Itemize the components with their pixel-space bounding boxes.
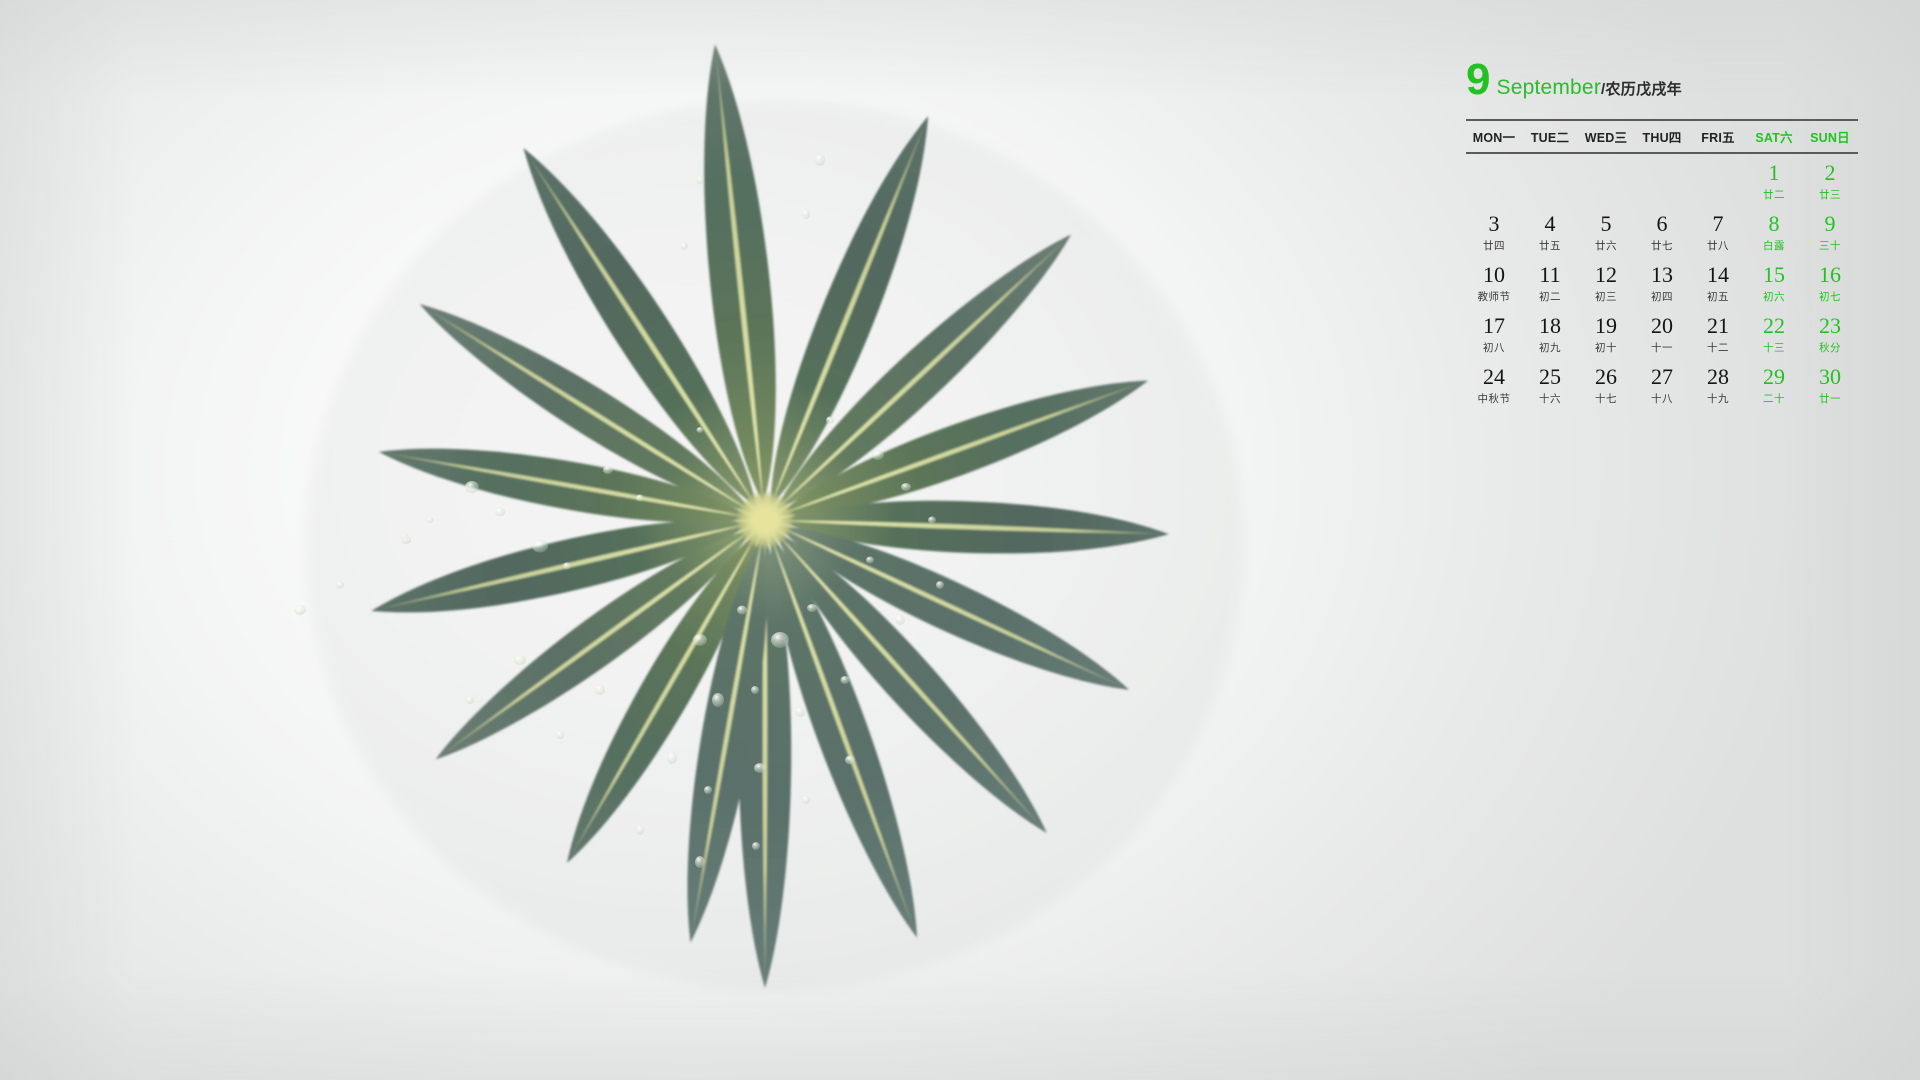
day-number: 11 (1522, 264, 1578, 286)
day-lunar-label: 十八 (1634, 394, 1690, 405)
day-lunar-label: 二十 (1746, 394, 1802, 405)
day-number: 9 (1802, 213, 1858, 235)
day-lunar-label: 廿七 (1634, 241, 1690, 252)
weekday-header-5: SAT六 (1746, 120, 1802, 153)
weekday-header-6: SUN日 (1802, 120, 1858, 153)
calendar-title: 9 September /农历戊戌年 (1466, 58, 1866, 104)
day-number: 12 (1578, 264, 1634, 286)
calendar-day-cell[interactable]: 6廿七 (1634, 205, 1690, 256)
calendar-day-cell[interactable]: 4廿五 (1522, 205, 1578, 256)
day-number: 25 (1522, 366, 1578, 388)
day-number: 1 (1746, 162, 1802, 184)
day-lunar-label: 初四 (1634, 292, 1690, 303)
calendar-week-row: 1廿二2廿三 (1466, 153, 1858, 205)
calendar-cell-empty (1578, 153, 1634, 205)
day-lunar-label: 秋分 (1802, 343, 1858, 354)
weekday-header-3: THU四 (1634, 120, 1690, 153)
calendar-cell-empty (1690, 153, 1746, 205)
calendar-week-row: 3廿四4廿五5廿六6廿七7廿八8白露9三十 (1466, 205, 1858, 256)
day-lunar-label: 初五 (1690, 292, 1746, 303)
calendar-day-cell[interactable]: 22十三 (1746, 307, 1802, 358)
calendar-cell-empty (1466, 153, 1522, 205)
day-lunar-label: 廿三 (1802, 190, 1858, 201)
day-lunar-label: 初十 (1578, 343, 1634, 354)
day-lunar-label: 初三 (1578, 292, 1634, 303)
day-number: 20 (1634, 315, 1690, 337)
month-name-en: September (1496, 76, 1601, 100)
weekday-header-4: FRI五 (1690, 120, 1746, 153)
day-lunar-label: 中秋节 (1466, 394, 1522, 405)
day-number: 22 (1746, 315, 1802, 337)
calendar-day-cell[interactable]: 1廿二 (1746, 153, 1802, 205)
day-lunar-label: 初九 (1522, 343, 1578, 354)
day-number: 8 (1746, 213, 1802, 235)
calendar-day-cell[interactable]: 10教师节 (1466, 256, 1522, 307)
day-lunar-label: 初八 (1466, 343, 1522, 354)
calendar-day-cell[interactable]: 3廿四 (1466, 205, 1522, 256)
day-lunar-label: 初六 (1746, 292, 1802, 303)
day-number: 28 (1690, 366, 1746, 388)
day-number: 18 (1522, 315, 1578, 337)
calendar-day-cell[interactable]: 30廿一 (1802, 358, 1858, 409)
calendar-day-cell[interactable]: 2廿三 (1802, 153, 1858, 205)
day-lunar-label: 十九 (1690, 394, 1746, 405)
calendar-week-row: 17初八18初九19初十20十一21十二22十三23秋分 (1466, 307, 1858, 358)
day-number: 21 (1690, 315, 1746, 337)
day-lunar-label: 初二 (1522, 292, 1578, 303)
calendar-week-row: 10教师节11初二12初三13初四14初五15初六16初七 (1466, 256, 1858, 307)
calendar-widget: 9 September /农历戊戌年 MON一TUE二WED三THU四FRI五S… (1466, 58, 1866, 409)
calendar-day-cell[interactable]: 20十一 (1634, 307, 1690, 358)
calendar-day-cell[interactable]: 25十六 (1522, 358, 1578, 409)
day-lunar-label: 白露 (1746, 241, 1802, 252)
calendar-day-cell[interactable]: 13初四 (1634, 256, 1690, 307)
day-lunar-label: 十六 (1522, 394, 1578, 405)
weekday-header-row: MON一TUE二WED三THU四FRI五SAT六SUN日 (1466, 120, 1858, 153)
weekday-header-0: MON一 (1466, 120, 1522, 153)
calendar-day-cell[interactable]: 29二十 (1746, 358, 1802, 409)
day-lunar-label: 廿一 (1802, 394, 1858, 405)
calendar-day-cell[interactable]: 27十八 (1634, 358, 1690, 409)
day-lunar-label: 三十 (1802, 241, 1858, 252)
calendar-day-cell[interactable]: 9三十 (1802, 205, 1858, 256)
calendar-day-cell[interactable]: 23秋分 (1802, 307, 1858, 358)
calendar-body: 1廿二2廿三3廿四4廿五5廿六6廿七7廿八8白露9三十10教师节11初二12初三… (1466, 153, 1858, 409)
calendar-head: MON一TUE二WED三THU四FRI五SAT六SUN日 (1466, 120, 1858, 153)
day-lunar-label: 廿四 (1466, 241, 1522, 252)
day-number: 3 (1466, 213, 1522, 235)
day-number: 13 (1634, 264, 1690, 286)
calendar-cell-empty (1522, 153, 1578, 205)
lunar-year: /农历戊戌年 (1601, 78, 1682, 99)
day-number: 16 (1802, 264, 1858, 286)
day-number: 5 (1578, 213, 1634, 235)
day-number: 27 (1634, 366, 1690, 388)
calendar-day-cell[interactable]: 26十七 (1578, 358, 1634, 409)
day-lunar-label: 十七 (1578, 394, 1634, 405)
day-lunar-label: 十二 (1690, 343, 1746, 354)
calendar-day-cell[interactable]: 17初八 (1466, 307, 1522, 358)
calendar-day-cell[interactable]: 18初九 (1522, 307, 1578, 358)
day-number: 19 (1578, 315, 1634, 337)
calendar-week-row: 24中秋节25十六26十七27十八28十九29二十30廿一 (1466, 358, 1858, 409)
day-lunar-label: 廿五 (1522, 241, 1578, 252)
calendar-day-cell[interactable]: 14初五 (1690, 256, 1746, 307)
day-number: 10 (1466, 264, 1522, 286)
calendar-day-cell[interactable]: 5廿六 (1578, 205, 1634, 256)
calendar-day-cell[interactable]: 12初三 (1578, 256, 1634, 307)
month-number: 9 (1466, 58, 1489, 102)
calendar-day-cell[interactable]: 8白露 (1746, 205, 1802, 256)
calendar-day-cell[interactable]: 7廿八 (1690, 205, 1746, 256)
calendar-day-cell[interactable]: 16初七 (1802, 256, 1858, 307)
day-lunar-label: 廿六 (1578, 241, 1634, 252)
weekday-header-2: WED三 (1578, 120, 1634, 153)
day-number: 30 (1802, 366, 1858, 388)
day-number: 23 (1802, 315, 1858, 337)
day-lunar-label: 教师节 (1466, 292, 1522, 303)
day-lunar-label: 廿二 (1746, 190, 1802, 201)
calendar-day-cell[interactable]: 21十二 (1690, 307, 1746, 358)
day-number: 17 (1466, 315, 1522, 337)
day-lunar-label: 十三 (1746, 343, 1802, 354)
day-number: 29 (1746, 366, 1802, 388)
day-number: 15 (1746, 264, 1802, 286)
calendar-day-cell[interactable]: 24中秋节 (1466, 358, 1522, 409)
day-number: 24 (1466, 366, 1522, 388)
calendar-day-cell[interactable]: 15初六 (1746, 256, 1802, 307)
day-lunar-label: 十一 (1634, 343, 1690, 354)
calendar-day-cell[interactable]: 19初十 (1578, 307, 1634, 358)
day-lunar-label: 廿八 (1690, 241, 1746, 252)
day-number: 26 (1578, 366, 1634, 388)
day-lunar-label: 初七 (1802, 292, 1858, 303)
calendar-grid: MON一TUE二WED三THU四FRI五SAT六SUN日 1廿二2廿三3廿四4廿… (1466, 119, 1858, 409)
weekday-header-1: TUE二 (1522, 120, 1578, 153)
day-number: 7 (1690, 213, 1746, 235)
day-number: 4 (1522, 213, 1578, 235)
day-number: 2 (1802, 162, 1858, 184)
wallpaper-canvas: 9 September /农历戊戌年 MON一TUE二WED三THU四FRI五S… (0, 0, 1920, 1080)
day-number: 6 (1634, 213, 1690, 235)
calendar-day-cell[interactable]: 11初二 (1522, 256, 1578, 307)
calendar-cell-empty (1634, 153, 1690, 205)
day-number: 14 (1690, 264, 1746, 286)
calendar-day-cell[interactable]: 28十九 (1690, 358, 1746, 409)
